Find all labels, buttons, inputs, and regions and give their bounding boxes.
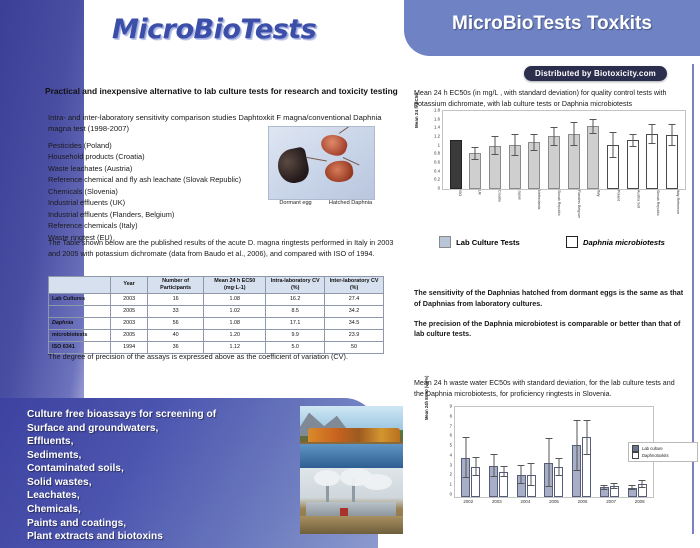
error-bar: [558, 458, 559, 476]
conclusions: The sensitivity of the Daphnias hatched …: [414, 288, 686, 349]
chart1-x-tick-label: Italy Reference: [667, 190, 679, 226]
chart2-y-tick: 4: [450, 452, 452, 457]
legend-label: Lab Culture Tests: [456, 238, 520, 247]
error-bar: [475, 457, 476, 477]
list-item: Solid wastes,: [27, 476, 327, 490]
table-cell: 34.2: [325, 305, 384, 317]
table-cell: 17.1: [266, 317, 325, 329]
chart1-bar: [568, 134, 580, 189]
table-cell: 56: [147, 317, 203, 329]
chart1-x-tick-label: Slovak Republic: [548, 190, 560, 226]
chart2-bar: [628, 488, 637, 497]
chart2-bar: [554, 467, 563, 497]
chart1-x-tick-label: Italy: [588, 190, 600, 226]
table-intro-paragraph: The Table shown below are the published …: [48, 238, 400, 260]
right-vertical-rule: [692, 64, 694, 534]
chart2-y-tick: 8: [450, 413, 452, 418]
error-bar: [614, 483, 615, 489]
chart2-x-tick-label: 2002: [463, 499, 473, 504]
poster-page: MicroBioTests MicroBioTests Toxkits Dist…: [0, 0, 700, 548]
chart1-x-tick-label: UK: [469, 190, 481, 226]
table-header-cell: Inter-laboratory CV (%): [325, 277, 384, 294]
list-item: Contaminated soils,: [27, 462, 327, 476]
error-bar: [521, 465, 522, 485]
chart2-bar-group: [600, 486, 619, 497]
error-bar: [475, 147, 476, 159]
legend-item-lab-culture: Lab culture: [632, 445, 694, 452]
error-bar: [534, 134, 535, 151]
error-bar: [576, 420, 577, 471]
chart1-y-tick: 1.6: [434, 116, 440, 121]
chart2-y-tick: 9: [450, 404, 452, 409]
smoke-plume-shape: [314, 470, 340, 486]
chart2-bar: [489, 466, 498, 497]
table-cell: 2005: [111, 305, 148, 317]
chart1-bars: [443, 111, 685, 189]
chart1-y-ticks: 00.20.40.60.811.21.41.61.8: [422, 108, 440, 188]
table-row: 2005 33 1.02 8.5 34.2: [49, 305, 384, 317]
landscape-photo: [300, 406, 403, 468]
chart2-y-axis-label: Mean 24h EC50 (vol%): [424, 376, 429, 420]
table-row-label: Lab Cultures: [49, 293, 111, 305]
chart1-bar: [587, 126, 599, 189]
table-header-cell: Year: [111, 277, 148, 294]
table-cell: 2003: [111, 317, 148, 329]
chart2-x-tick-label: 2006: [578, 499, 588, 504]
chart2-bar-group: [628, 484, 647, 497]
dormant-egg-shape: [275, 146, 311, 185]
legend-swatch-icon: [566, 236, 578, 248]
table-row-label: Daphnia: [49, 317, 111, 329]
chart2-bar: [544, 463, 553, 497]
list-item: Sediments,: [27, 449, 327, 463]
error-bar: [531, 463, 532, 486]
chart1-y-tick: 1.2: [434, 134, 440, 139]
header-banner: MicroBioTests Toxkits: [404, 0, 700, 56]
table-row: microbiotests 2005 40 1.20 9.9 23.9: [49, 329, 384, 341]
antenna-icon: [307, 157, 327, 161]
tagline: Practical and inexpensive alternative to…: [45, 86, 398, 96]
photo-captions: Dormant egg Hatched Daphnia: [268, 200, 378, 208]
chart1-y-tick: 0.8: [434, 151, 440, 156]
table-cell: 2005: [111, 329, 148, 341]
hatched-daphnia-shape-2: [324, 159, 355, 184]
chart1-x-tick-label: Croatia: [489, 190, 501, 226]
chart2-bar: [517, 475, 526, 497]
table-header-row: Year Number of Participants Mean 24 h EC…: [49, 277, 384, 294]
error-bar: [632, 134, 633, 147]
cv-note: The degree of precision of the assays is…: [48, 352, 400, 361]
chart1-y-tick: 0: [438, 186, 440, 191]
chart1-bar: [489, 146, 501, 189]
chart1-bar: [666, 135, 678, 189]
distributed-by-badge: Distributed by Biotoxicity.com: [524, 66, 667, 81]
table-cell: 16.2: [266, 293, 325, 305]
table-cell: 23.9: [325, 329, 384, 341]
chart2-y-tick: 5: [450, 443, 452, 448]
chart1-x-tick-label: Poland: [608, 190, 620, 226]
legend-item-daphnotoxkits: Daphnotoxkits: [632, 452, 694, 459]
chart1-bar: [548, 136, 560, 189]
chart1-x-tick-label: Netherlands: [528, 190, 540, 226]
table-row-label: microbiotests: [49, 329, 111, 341]
list-item: Industrial effluents (Flanders, Belgium): [48, 209, 318, 220]
list-item: Plant extracts and biotoxins: [27, 530, 327, 544]
factory-building-shape: [306, 502, 396, 516]
chart2-y-tick: 0: [450, 492, 452, 497]
antenna-icon: [339, 126, 353, 134]
chart1-y-tick: 1.8: [434, 108, 440, 113]
ringtest-results-table: Year Number of Participants Mean 24 h EC…: [48, 276, 384, 354]
conclusion-2: The precision of the Daphnia microbiotes…: [414, 319, 686, 341]
error-bar: [613, 132, 614, 158]
legend-label: Daphnia microbiotests: [583, 238, 665, 247]
error-bar: [495, 136, 496, 155]
table-cell: 27.4: [325, 293, 384, 305]
error-bar: [672, 124, 673, 146]
chart1-x-tick-label: Austria Soil: [627, 190, 639, 226]
table-cell: 9.9: [266, 329, 325, 341]
chart1-y-tick: 0.6: [434, 160, 440, 165]
chart2-bar-group: [544, 463, 563, 497]
daphnia-photo: [268, 126, 375, 200]
chart2-bar: [610, 486, 619, 497]
legend-label: Daphnotoxkits: [642, 452, 669, 459]
chart2-x-tick-label: 2007: [606, 499, 616, 504]
error-bar: [652, 124, 653, 144]
chart1-bar: [607, 145, 619, 189]
photo-caption-dormant-egg: Dormant egg: [268, 200, 323, 208]
chart2-x-tick-label: 2004: [521, 499, 531, 504]
chart-slovenia-ringtests: Mean 24h EC50 (vol%) 0123456789 20022003…: [424, 404, 654, 524]
legend-swatch-icon: [439, 236, 451, 248]
chart1-bar: [646, 134, 658, 189]
legend-item-daphnia-microbiotests: Daphnia microbiotests: [566, 236, 665, 248]
chart1-bar: [528, 142, 540, 189]
table-header-cell: Intra-laboratory CV (%): [266, 277, 325, 294]
error-bar: [586, 420, 587, 455]
chart2-x-labels: 2002200320042005200620072008: [454, 499, 654, 504]
chart2-bar: [499, 472, 508, 497]
chart1-plot-area: [442, 110, 686, 190]
table-header-cell: Mean 24 h EC50 (mg·L-1): [204, 277, 266, 294]
list-item: Effluents,: [27, 435, 327, 449]
ground-layer: [300, 516, 403, 534]
table-cell: 1.08: [204, 317, 266, 329]
chart1-y-tick: 0.4: [434, 168, 440, 173]
bar-body: [450, 140, 462, 189]
chart2-y-tick: 7: [450, 423, 452, 428]
chart2-x-tick-label: 2008: [635, 499, 645, 504]
list-item: Paints and coatings,: [27, 517, 327, 531]
list-item: Chemicals,: [27, 503, 327, 517]
chart2-y-tick: 6: [450, 433, 452, 438]
industrial-photo: [300, 468, 403, 534]
chart1-x-tick-label: Japan: [508, 190, 520, 226]
table-cell: 34.5: [325, 317, 384, 329]
chart2-plot-area: [454, 406, 654, 498]
table-cell: 1.02: [204, 305, 266, 317]
chart1-x-tick-label: ISO: [449, 190, 461, 226]
hatched-daphnia-shape-1: [319, 131, 350, 158]
legend-swatch-icon: [632, 452, 639, 459]
legend-item-lab-culture: Lab Culture Tests: [439, 236, 520, 248]
table-cell: 2003: [111, 293, 148, 305]
error-bar: [554, 127, 555, 146]
chart1-caption: Mean 24 h EC50s (in mg/L , with standard…: [414, 88, 686, 109]
chart1-y-axis-label: Mean 24 h EC50: [414, 93, 419, 128]
table-cell: 40: [147, 329, 203, 341]
error-bar: [548, 438, 549, 487]
chart2-y-tick: 2: [450, 472, 452, 477]
chart1-x-labels: ISOUKCroatiaJapanNetherlandsSlovak Repub…: [442, 190, 686, 226]
chart1-bar: [450, 140, 462, 189]
chart2-bar: [572, 445, 581, 497]
chart2-bar: [600, 487, 609, 497]
error-bar: [642, 480, 643, 488]
chart2-caption: Mean 24 h waste water EC50s with standar…: [414, 378, 686, 399]
table-cell: 1.08: [204, 293, 266, 305]
chart2-bar-group: [572, 437, 591, 497]
chart-quality-control-ec50: Mean 24 h EC50 00.20.40.60.811.21.41.61.…: [416, 108, 688, 228]
chart1-bar: [509, 145, 521, 189]
table-header-cell: Number of Participants: [147, 277, 203, 294]
chart1-y-tick: 1.4: [434, 125, 440, 130]
chart2-legend: Lab culture Daphnotoxkits: [628, 442, 698, 462]
chart2-y-tick: 1: [450, 482, 452, 487]
error-bar: [593, 119, 594, 134]
table-row: Lab Cultures 2003 16 1.08 16.2 27.4: [49, 293, 384, 305]
chart2-bar: [582, 437, 591, 497]
chart2-x-tick-label: 2005: [549, 499, 559, 504]
error-bar: [573, 122, 574, 145]
legend-swatch-icon: [632, 445, 639, 452]
chart1-x-tick-label: Slovak Republic: [647, 190, 659, 226]
error-bar: [503, 466, 504, 478]
bar-body: [627, 140, 639, 189]
chart1-bar: [627, 140, 639, 189]
error-bar: [465, 437, 466, 478]
list-item: Culture free bioassays for screening of: [27, 408, 327, 422]
chart2-bar: [638, 484, 647, 497]
chart1-y-tick: 1: [438, 142, 440, 147]
table-header-cell: [49, 277, 111, 294]
chart2-bar: [527, 475, 536, 497]
river-water-shape: [300, 444, 403, 468]
list-item: Surface and groundwaters,: [27, 422, 327, 436]
bar-body: [587, 126, 599, 189]
chart2-bar-groups: [455, 407, 653, 497]
legend-label: Lab culture: [642, 445, 663, 452]
brand-logo: MicroBioTests: [112, 14, 316, 45]
table-cell: 8.5: [266, 305, 325, 317]
page-title: MicroBioTests Toxkits: [404, 13, 700, 35]
chart2-x-tick-label: 2003: [492, 499, 502, 504]
chart2-y-ticks: 0123456789: [434, 406, 452, 496]
conclusion-1: The sensitivity of the Daphnias hatched …: [414, 288, 686, 310]
table-cell: 1.20: [204, 329, 266, 341]
chart2-bar: [461, 458, 470, 497]
table-row: Daphnia 2003 56 1.08 17.1 34.5: [49, 317, 384, 329]
list-item: Leachates,: [27, 489, 327, 503]
list-item: Reference chemicals (Italy): [48, 220, 318, 231]
applications-list: Culture free bioassays for screening of …: [27, 408, 327, 544]
chart1-legend: Lab Culture Tests Daphnia microbiotests: [416, 236, 688, 248]
smoke-plume-shape: [362, 474, 392, 490]
error-bar: [632, 485, 633, 490]
table-cell: 16: [147, 293, 203, 305]
table-row-label: [49, 305, 111, 317]
error-bar: [514, 134, 515, 157]
chart1-x-tick-label: Flanders Belgium: [568, 190, 580, 226]
chart1-bar: [469, 153, 481, 189]
error-bar: [493, 454, 494, 477]
chart2-y-tick: 3: [450, 462, 452, 467]
chart2-bar: [471, 467, 480, 497]
photo-caption-hatched-daphnia: Hatched Daphnia: [323, 200, 378, 208]
error-bar: [604, 485, 605, 490]
chart2-bar-group: [461, 458, 480, 497]
table-cell: 33: [147, 305, 203, 317]
chart2-bar-group: [517, 475, 536, 497]
chart2-bar-group: [489, 466, 508, 497]
chart1-y-tick: 0.2: [434, 177, 440, 182]
